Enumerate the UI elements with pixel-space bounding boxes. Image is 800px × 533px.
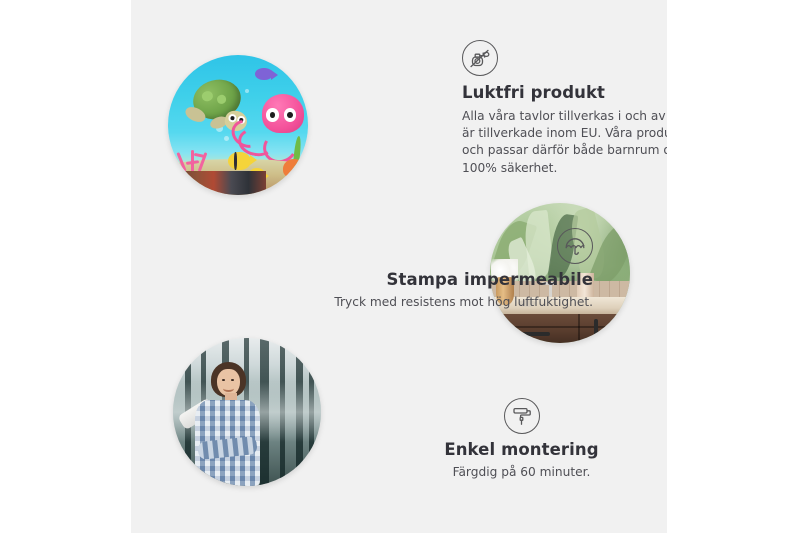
- paint-roller-icon: [504, 398, 540, 434]
- yellow-fish: [228, 152, 250, 170]
- feature-title: Luktfri produkt: [462, 83, 667, 104]
- feature-block-waterproof: Stampa impermeabile Tryck med resistens …: [321, 228, 593, 311]
- purple-fish: [255, 68, 273, 81]
- door-handle: [594, 319, 598, 336]
- feature-description: Färgdig på 60 minuter.: [419, 464, 624, 481]
- octopus-head: [262, 94, 304, 133]
- feature-title: Stampa impermeabile: [321, 270, 593, 291]
- feature-block-odourless: Luktfri produkt Alla våra tavlor tillver…: [462, 40, 667, 177]
- feature-description: Alla våra tavlor tillverkas i och av pro…: [462, 108, 667, 177]
- crab: [283, 159, 305, 179]
- umbrella-icon: [557, 228, 593, 264]
- content-panel: Luktfri produkt Alla våra tavlor tillver…: [131, 0, 667, 533]
- no-perfume-bottle-icon: [462, 40, 498, 76]
- installer-woman-forest-photo: [173, 338, 321, 486]
- photo-strip: [179, 171, 266, 195]
- wooden-cabinet: [490, 314, 630, 343]
- octopus-eye: [266, 108, 279, 121]
- feature-title: Enkel montering: [419, 440, 624, 461]
- feature-description: Tryck med resistens mot hög luftfuktighe…: [321, 294, 593, 311]
- feature-block-assembly: Enkel montering Färgdig på 60 minuter.: [419, 398, 624, 481]
- underwater-cartoon-photo: [168, 55, 308, 195]
- drawer-handle: [514, 332, 550, 336]
- woman-face: [217, 369, 239, 396]
- product-feature-infographic: Luktfri produkt Alla våra tavlor tillver…: [0, 0, 800, 533]
- octopus-eye: [284, 108, 297, 121]
- bubble-icon: [245, 89, 249, 93]
- bubble-icon: [224, 136, 229, 141]
